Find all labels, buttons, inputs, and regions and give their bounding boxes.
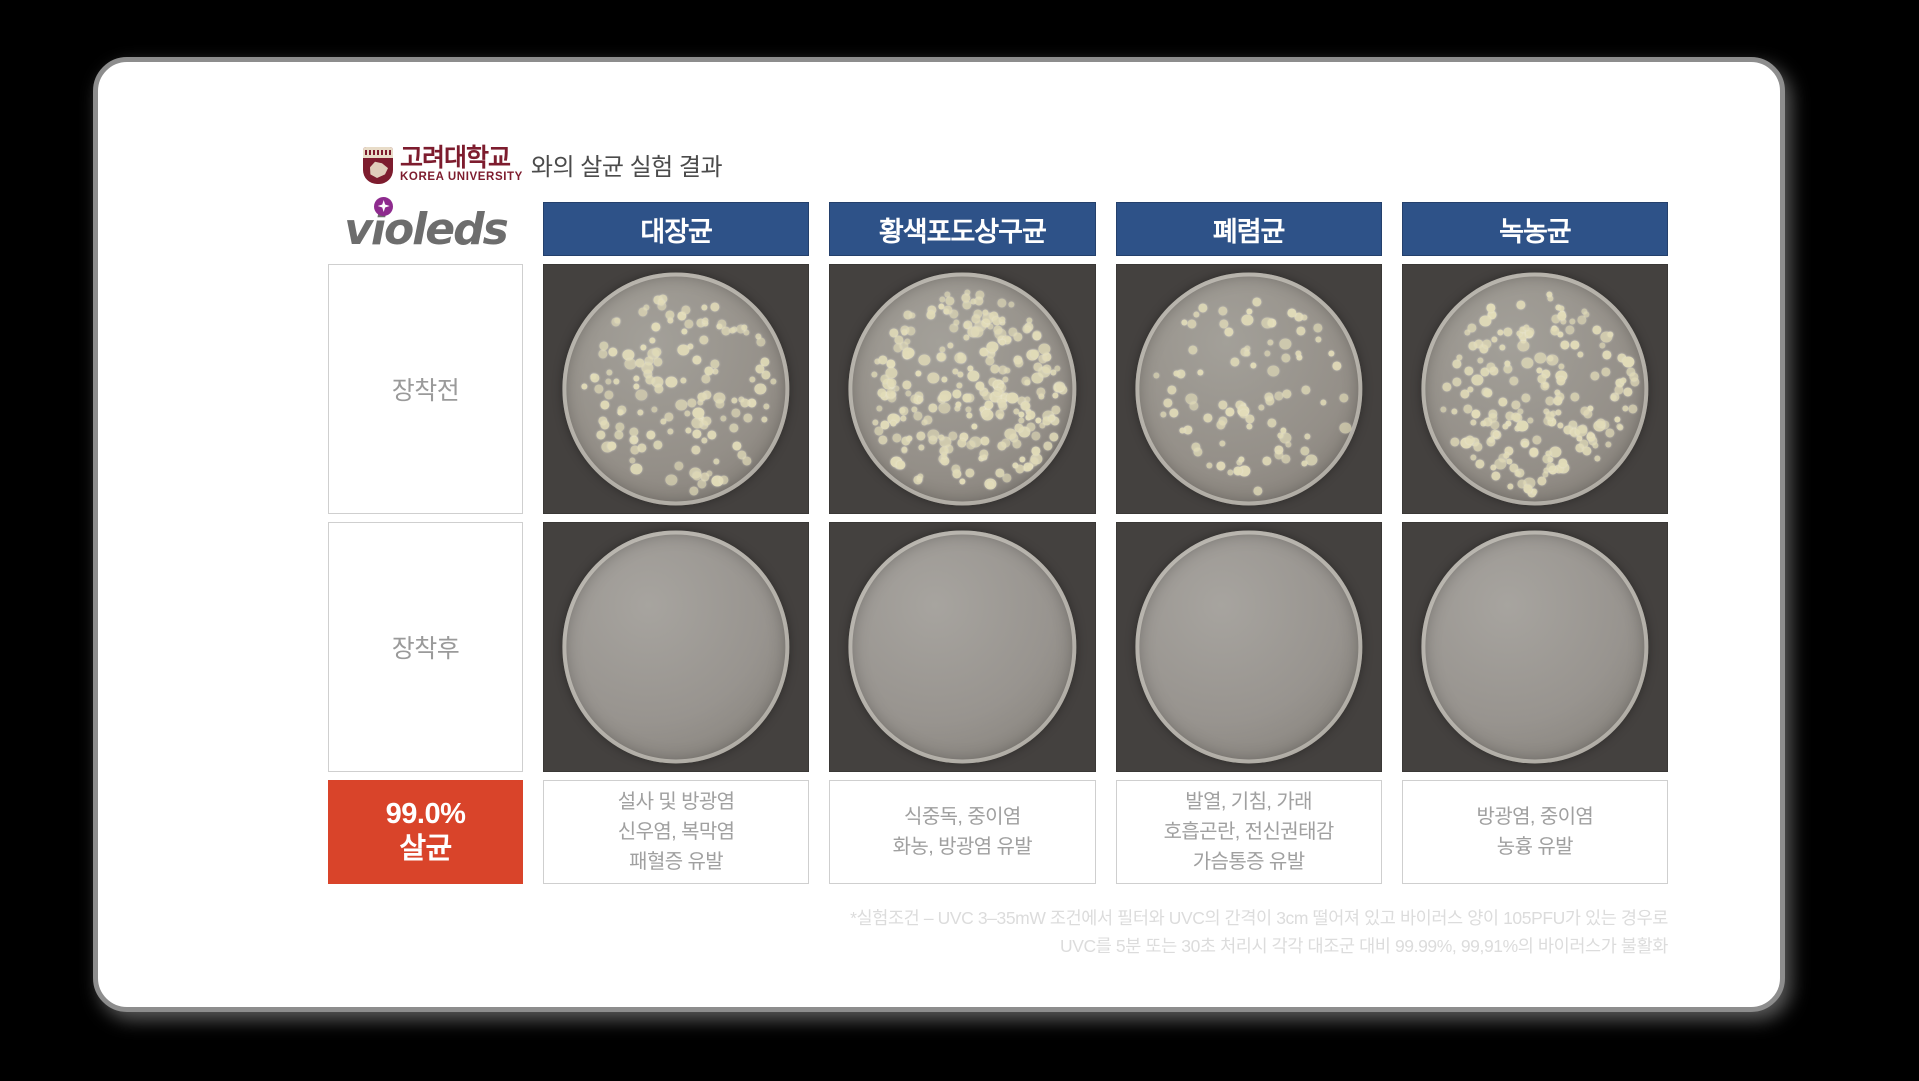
colony-dot	[956, 401, 962, 407]
colony-dot	[1628, 405, 1637, 414]
colony-dot	[756, 364, 765, 373]
colony-dot	[1606, 441, 1612, 447]
colony-dot	[1622, 406, 1628, 412]
colony-dot	[1523, 324, 1529, 330]
colony-dot	[901, 447, 907, 453]
colony-dot	[953, 469, 962, 478]
colony-dot	[692, 429, 701, 438]
description-line: 가슴통증 유발	[1193, 847, 1305, 877]
petri-dish-after-pneumonia	[1116, 522, 1382, 772]
colony-dot	[756, 337, 765, 346]
colony-dot	[942, 452, 948, 458]
colony-dot	[599, 341, 608, 350]
colony-dot	[1283, 390, 1292, 399]
petri-dish-icon	[563, 272, 790, 505]
colony-dot	[654, 385, 663, 394]
colony-dot	[1558, 363, 1564, 369]
colony-dot	[878, 436, 887, 445]
colony-dot	[888, 378, 897, 387]
colony-dot	[733, 442, 742, 451]
badge-value: 99.0%	[386, 797, 466, 832]
colony-dot	[1004, 368, 1010, 374]
colony-dot	[1560, 340, 1569, 349]
colony-dot	[1266, 396, 1275, 405]
colony-dot	[596, 431, 605, 440]
colony-dot	[1471, 374, 1483, 385]
colony-dot	[761, 417, 767, 423]
petri-dish-after-staphylococcus	[829, 522, 1095, 772]
colony-dot	[1054, 365, 1060, 371]
colony-dot	[1592, 443, 1598, 449]
colony-dot	[1218, 307, 1227, 316]
colony-dot	[638, 410, 644, 416]
colony-dot	[1529, 447, 1538, 456]
colony-dot	[607, 370, 613, 376]
colony-dot	[680, 378, 686, 384]
colony-dot	[608, 442, 617, 451]
colony-dot	[1483, 388, 1492, 397]
colony-dot	[1225, 328, 1234, 337]
violeds-logo: violeds	[344, 204, 507, 255]
colony-dot	[1442, 383, 1451, 392]
description-line: 패혈증 유발	[629, 847, 723, 877]
colony-dot	[948, 342, 954, 348]
colony-dot	[729, 328, 735, 334]
colony-dot	[1498, 397, 1507, 406]
colony-dot	[741, 324, 747, 330]
colony-dot	[1216, 461, 1225, 470]
colony-dot	[1019, 456, 1025, 462]
row-label-after: 장착후	[328, 522, 523, 772]
colony-dot	[1253, 487, 1262, 496]
colony-dot	[873, 420, 879, 426]
colony-dot	[633, 383, 639, 389]
colony-dot	[706, 470, 712, 476]
colony-dot	[730, 424, 739, 433]
badge-unit: 살균	[399, 832, 451, 867]
university-name-en: KOREA UNIVERSITY	[400, 171, 523, 184]
colony-dot	[1207, 462, 1213, 468]
colony-dot	[1456, 355, 1462, 361]
colony-dot	[997, 399, 1006, 408]
colony-dot	[1492, 471, 1501, 480]
petri-dish-before-pneumonia	[1116, 264, 1382, 514]
colony-dot	[1595, 455, 1601, 461]
colony-dot	[1580, 406, 1589, 415]
colony-dot	[1602, 350, 1611, 359]
colony-dot	[685, 411, 691, 417]
colony-dot	[594, 384, 603, 393]
colony-dot	[1500, 345, 1506, 351]
colony-dot	[686, 427, 692, 433]
colony-dot	[986, 341, 998, 352]
korea-university-logo: 고려대학교 KOREA UNIVERSITY	[363, 145, 523, 184]
colony-dot	[1226, 408, 1235, 417]
colony-dot	[1016, 465, 1025, 474]
colony-dot	[1180, 428, 1186, 434]
colony-dot	[939, 434, 945, 440]
colony-dot	[1473, 442, 1482, 451]
colony-dot	[917, 473, 923, 479]
colony-dot	[1522, 393, 1531, 402]
colony-dot	[1252, 298, 1261, 307]
colony-dot	[600, 400, 609, 409]
description-pseudomonas: 방광염, 중이염 농흉 유발	[1402, 780, 1668, 884]
colony-dot	[1315, 336, 1321, 342]
colony-dot	[1264, 350, 1270, 356]
colony-dot	[606, 378, 612, 384]
university-name-ko: 고려대학교	[400, 145, 523, 171]
colony-dot	[1280, 427, 1286, 433]
colony-dot	[1452, 409, 1458, 415]
colony-dot	[653, 441, 662, 450]
colony-dot	[1514, 471, 1520, 477]
colony-dot	[1487, 303, 1496, 312]
colony-dot	[1465, 366, 1474, 375]
colony-dot	[1014, 358, 1023, 367]
colony-dot	[1480, 315, 1492, 326]
colony-dot	[1522, 442, 1528, 448]
colony-dot	[1026, 422, 1035, 431]
colony-dot	[649, 337, 655, 343]
colony-dot	[1199, 303, 1208, 312]
colony-dot	[1591, 372, 1600, 381]
colony-dot	[1169, 409, 1178, 418]
colony-dot	[740, 399, 749, 408]
colony-dot	[1188, 319, 1197, 328]
tiger-emblem-icon	[368, 160, 388, 178]
colony-group-1	[563, 272, 790, 505]
colony-dot	[966, 468, 975, 477]
colony-dot	[955, 352, 967, 363]
colony-dot	[1504, 452, 1510, 458]
colony-dot	[1154, 373, 1160, 379]
description-ecoli: 설사 및 방광염 신우염, 복막염 패혈증 유발	[543, 780, 809, 884]
colony-dot	[1332, 361, 1341, 370]
colony-dot	[692, 407, 704, 418]
petri-dish-icon	[1135, 530, 1362, 763]
footnote-line-2: UVC를 5분 또는 30초 처리시 각각 대조군 대비 99.99%, 99,…	[328, 932, 1668, 960]
colony-dot	[678, 344, 690, 355]
colony-dot	[731, 397, 737, 403]
colony-dot	[1582, 447, 1591, 456]
experiment-table: violeds 대장균 황색포도상구균 폐렴균 녹농균 장착전	[328, 202, 1668, 884]
colony-dot	[927, 429, 939, 440]
description-pneumonia: 발열, 기침, 가래 호흡곤란, 전신권태감 가슴통증 유발	[1116, 780, 1382, 884]
colony-dot	[711, 359, 720, 368]
colony-dot	[1305, 455, 1317, 466]
colony-dot	[987, 324, 993, 330]
colony-dot	[960, 478, 966, 484]
colony-dot	[1570, 318, 1576, 324]
colony-dot	[1504, 361, 1510, 367]
colony-dot	[1470, 419, 1476, 425]
colony-dot	[1546, 411, 1555, 420]
colony-dot	[981, 436, 990, 445]
colony-dot	[1281, 353, 1290, 362]
colony-dot	[635, 390, 647, 401]
colony-dot	[972, 326, 984, 337]
row-label-before: 장착전	[328, 264, 523, 514]
colony-dot	[937, 352, 946, 361]
colony-dot	[1521, 357, 1533, 368]
colony-dot	[707, 430, 716, 439]
petri-dish-icon	[1421, 272, 1648, 505]
university-wordmark: 고려대학교 KOREA UNIVERSITY	[400, 145, 523, 184]
description-staphylococcus: 식중독, 중이염 화농, 방광염 유발	[829, 780, 1095, 884]
colony-dot	[927, 311, 936, 320]
colony-dot	[630, 446, 639, 455]
colony-dot	[1621, 377, 1627, 383]
colony-dot	[692, 355, 701, 364]
colony-dot	[1629, 372, 1638, 381]
colony-dot	[1475, 460, 1484, 469]
colony-dot	[1600, 342, 1606, 348]
petri-dish-after-pseudomonas	[1402, 522, 1668, 772]
colony-dot	[1013, 333, 1022, 342]
colony-dot	[688, 399, 697, 408]
colony-dot	[1557, 376, 1566, 385]
colony-dot	[966, 412, 972, 418]
colony-dot	[1275, 451, 1284, 460]
colony-dot	[1263, 456, 1272, 465]
colony-dot	[1623, 388, 1632, 397]
petri-dish-icon	[1135, 272, 1362, 505]
colony-dot	[874, 426, 883, 435]
colony-dot	[1245, 414, 1254, 423]
colony-dot	[598, 350, 607, 359]
colony-dot	[917, 396, 923, 402]
colony-dot	[1258, 405, 1264, 411]
colony-dot	[948, 432, 957, 441]
colony-dot	[1160, 412, 1166, 418]
colony-dot	[1516, 420, 1528, 431]
colony-dot	[1250, 362, 1256, 368]
colony-dot	[1477, 358, 1483, 364]
colony-dot	[910, 313, 916, 319]
brand-logo-cell: violeds	[328, 202, 523, 256]
colony-dot	[1486, 362, 1495, 371]
colony-dot	[715, 400, 724, 409]
colony-dot	[1285, 441, 1291, 447]
colony-dot	[988, 481, 994, 487]
colony-dot	[713, 458, 719, 464]
colony-dot	[967, 370, 979, 381]
colony-dot	[1440, 406, 1446, 412]
colony-dot	[604, 391, 613, 400]
colony-dot	[999, 339, 1005, 345]
colony-dot	[917, 432, 926, 441]
colony-dot	[1013, 440, 1022, 449]
colony-dot	[1301, 460, 1307, 466]
colony-dot	[691, 445, 700, 454]
colony-dot	[713, 368, 719, 374]
colony-dot	[1523, 485, 1532, 494]
colony-dot	[1600, 331, 1612, 342]
colony-dot	[919, 444, 925, 450]
colony-dot	[1451, 437, 1460, 446]
colony-dot	[645, 376, 654, 385]
colony-dot	[1244, 350, 1250, 356]
colony-dot	[957, 439, 966, 448]
colony-dot	[1268, 340, 1274, 346]
colony-dot	[1508, 484, 1514, 490]
result-card: 고려대학교 KOREA UNIVERSITY 와의 살균 실험 결과 viole…	[93, 57, 1785, 1012]
colony-dot	[1535, 352, 1547, 363]
column-header-ecoli: 대장균	[543, 202, 809, 256]
colony-dot	[601, 421, 610, 430]
colony-dot	[1339, 394, 1348, 403]
colony-dot	[1302, 315, 1308, 321]
colony-dot	[1471, 454, 1477, 460]
colony-dot	[1472, 409, 1481, 418]
petri-dish-before-pseudomonas	[1402, 264, 1668, 514]
colony-dot	[1467, 386, 1473, 392]
colony-dot	[614, 378, 620, 384]
colony-dot	[1614, 417, 1620, 423]
description-line: 방광염, 중이염	[1477, 802, 1594, 832]
colony-dot	[885, 367, 897, 378]
colony-dot	[1482, 339, 1491, 348]
description-line: 발열, 기침, 가래	[1185, 787, 1312, 817]
colony-dot	[916, 370, 922, 376]
colony-dot	[1304, 433, 1310, 439]
colony-dot	[1339, 423, 1351, 434]
colony-dot	[1001, 438, 1010, 447]
colony-dot	[902, 381, 911, 390]
footnote-line-1: *실험조건 – UVC 3–35mW 조건에서 필터와 UVC의 간격이 3cm…	[328, 904, 1668, 932]
colony-dot	[1189, 402, 1198, 411]
colony-dot	[1622, 356, 1634, 367]
crest-band	[363, 147, 393, 158]
colony-dot	[742, 456, 751, 465]
colony-dot	[1193, 312, 1199, 318]
colony-dot	[1584, 312, 1590, 318]
description-line: 화농, 방광염 유발	[893, 832, 1032, 862]
description-line: 신우염, 복막염	[618, 817, 735, 847]
colony-dot	[652, 322, 661, 331]
violeds-sparkle-icon	[374, 197, 393, 216]
colony-dot	[1557, 423, 1563, 429]
colony-dot	[982, 391, 991, 400]
colony-dot	[635, 358, 644, 367]
colony-dot	[771, 379, 777, 385]
colony-dot	[1288, 308, 1297, 317]
colony-dot	[963, 393, 972, 402]
colony-dot	[654, 358, 663, 367]
colony-dot	[957, 371, 963, 377]
column-header-pneumonia: 폐렴균	[1116, 202, 1382, 256]
colony-dot	[999, 317, 1005, 323]
colony-dot	[749, 377, 755, 383]
colony-dot	[990, 364, 999, 373]
colony-dot	[1267, 418, 1276, 427]
petri-dish-after-ecoli	[543, 522, 809, 772]
colony-dot	[666, 474, 678, 485]
colony-dot	[609, 348, 618, 357]
colony-dot	[896, 460, 905, 469]
petri-dish-before-staphylococcus	[829, 264, 1095, 514]
colony-dot	[907, 327, 916, 336]
colony-dot	[902, 347, 914, 358]
colony-dot	[665, 376, 677, 387]
colony-dot	[1570, 392, 1579, 401]
colony-group-3	[1135, 272, 1362, 505]
colony-dot	[697, 392, 706, 401]
colony-dot	[1503, 423, 1509, 429]
colony-dot	[1219, 441, 1225, 447]
colony-dot	[1233, 466, 1242, 475]
colony-dot	[1043, 441, 1052, 450]
petri-dish-before-ecoli	[543, 264, 809, 514]
colony-dot	[912, 407, 918, 413]
colony-dot	[690, 486, 699, 495]
colony-dot	[711, 302, 720, 311]
colony-dot	[1547, 355, 1559, 366]
colony-dot	[939, 391, 951, 402]
colony-dot	[661, 419, 667, 425]
colony-dot	[1497, 329, 1503, 335]
colony-dot	[976, 381, 985, 390]
colony-dot	[1592, 326, 1601, 335]
description-line: 농흉 유발	[1497, 832, 1573, 862]
colony-dot	[646, 430, 655, 439]
card-content: 고려대학교 KOREA UNIVERSITY 와의 살균 실험 결과 viole…	[328, 122, 1668, 960]
colony-dot	[1463, 404, 1472, 413]
colony-dot	[1320, 399, 1326, 405]
title-row: 고려대학교 KOREA UNIVERSITY 와의 살균 실험 결과	[363, 122, 1668, 184]
colony-dot	[1558, 311, 1567, 320]
colony-dot	[1452, 359, 1461, 368]
colony-dot	[702, 374, 711, 383]
colony-dot	[1302, 385, 1311, 394]
colony-dot	[591, 374, 600, 383]
colony-dot	[1605, 428, 1614, 437]
colony-dot	[1533, 436, 1542, 445]
violeds-wordmark: violeds	[344, 204, 507, 255]
colony-dot	[1203, 414, 1212, 423]
column-header-staphylococcus: 황색포도상구균	[829, 202, 1095, 256]
colony-dot	[1238, 456, 1244, 462]
colony-dot	[1181, 319, 1187, 325]
colony-dot	[1558, 306, 1564, 312]
footnote: *실험조건 – UVC 3–35mW 조건에서 필터와 UVC의 간격이 3cm…	[328, 904, 1668, 960]
colony-dot	[630, 463, 642, 474]
petri-dish-icon	[849, 272, 1076, 505]
colony-dot	[582, 384, 588, 390]
colony-dot	[700, 336, 709, 345]
colony-dot	[702, 417, 711, 426]
colony-dot	[979, 450, 988, 459]
colony-dot	[1531, 489, 1537, 495]
colony-dot	[1231, 357, 1240, 366]
colony-dot	[904, 338, 910, 344]
colony-dot	[1489, 436, 1495, 442]
colony-dot	[1610, 394, 1616, 400]
colony-dot	[1553, 397, 1562, 406]
colony-dot	[1571, 341, 1580, 350]
colony-dot	[1267, 365, 1279, 376]
colony-dot	[1467, 323, 1476, 332]
colony-dot	[684, 319, 693, 328]
colony-dot	[1329, 351, 1335, 357]
colony-dot	[1296, 327, 1305, 336]
colony-dot	[668, 429, 674, 435]
page-title: 와의 살균 실험 결과	[531, 147, 722, 184]
colony-dot	[1167, 385, 1176, 394]
colony-dot	[972, 424, 978, 430]
colony-dot	[981, 409, 993, 420]
